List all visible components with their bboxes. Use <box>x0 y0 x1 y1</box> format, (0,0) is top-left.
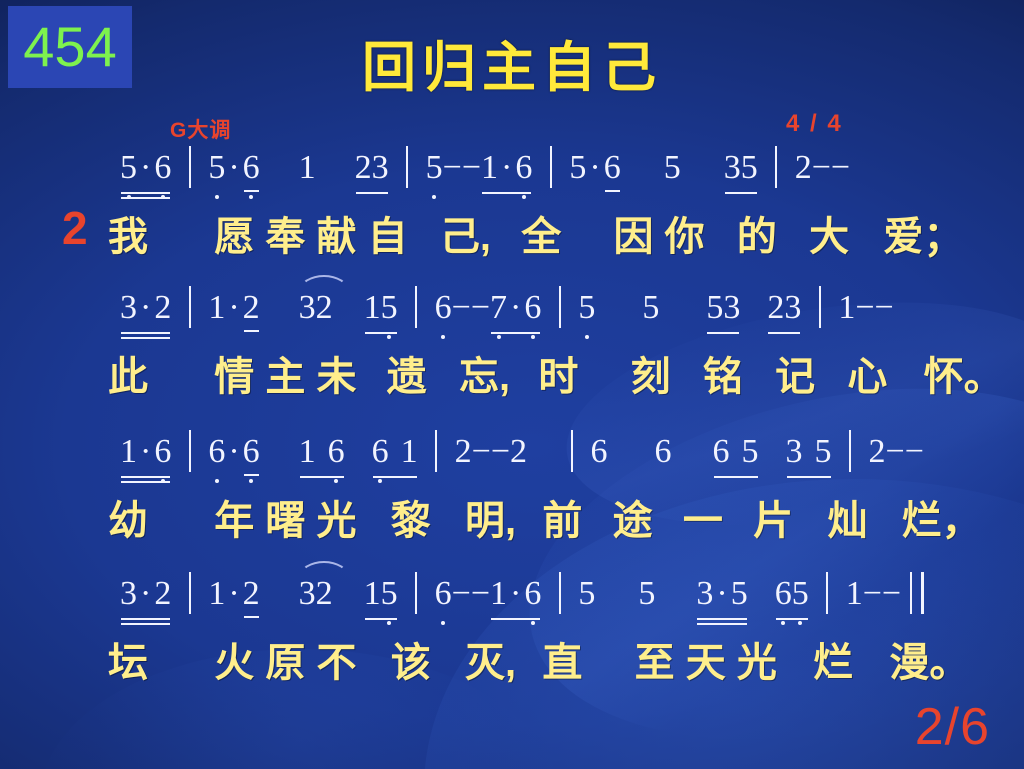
lyric-syllable: 前 <box>542 488 582 546</box>
lyric-syllable: 漫。 <box>889 630 969 688</box>
note: 2 <box>795 151 812 185</box>
lyric-syllable: 火 <box>214 630 254 688</box>
duration-dash: − <box>905 433 924 471</box>
note-group: 5·6 <box>120 149 171 187</box>
barline <box>189 286 191 328</box>
note: 6 <box>372 435 389 469</box>
note: 2 <box>355 151 372 185</box>
barline <box>435 430 437 472</box>
music-system-3: 1·6 6·6 16 61 2−−2 6 6 65 35 2−− 幼 年 曙 <box>0 430 1024 550</box>
lyric-syllable: 灭, <box>465 630 516 688</box>
note: 1 <box>364 577 381 611</box>
note: 3 <box>120 291 137 325</box>
note: 5 <box>381 291 398 325</box>
note-group: 1·6 <box>481 149 532 187</box>
barline <box>406 146 408 188</box>
note-group: 15 <box>364 575 398 613</box>
note: 5 <box>664 151 681 185</box>
augmentation-dot: · <box>137 433 154 471</box>
lyric-syllable: 大 <box>809 204 849 262</box>
augmentation-dot: · <box>507 575 524 613</box>
lyric-syllable: 愿 <box>214 204 254 262</box>
duration-dash: − <box>462 149 481 187</box>
lyric-syllable: 忘, <box>459 344 510 402</box>
duration-dash: − <box>471 575 490 613</box>
music-system-2: 3·2 1·2 32 15 6−−7·6 5 5 53 23 1−− 此 情 主… <box>0 286 1024 406</box>
page-indicator: 2/6 <box>915 701 990 753</box>
lyric-syllable: 天 <box>686 630 726 688</box>
lyric-row-3: 幼 年 曙 光 黎 明, 前 途 一 片 灿 烂， <box>0 488 1024 550</box>
note: 1 <box>120 435 137 469</box>
augmentation-dot: · <box>586 149 603 187</box>
note: 3 <box>724 151 741 185</box>
lyric-syllable: 心 <box>847 344 887 402</box>
note: 7 <box>490 291 507 325</box>
note: 1 <box>481 151 498 185</box>
note: 1 <box>208 577 225 611</box>
note: 2 <box>316 577 333 611</box>
note-group: 16 <box>299 433 345 471</box>
note: 6 <box>655 435 672 469</box>
note: 1 <box>299 435 316 469</box>
lyric-syllable: 全 <box>521 204 561 262</box>
lyric-row-2: 此 情 主 未 遗 忘, 时 刻 铭 记 心 怀。 <box>0 344 1024 406</box>
augmentation-dot: · <box>225 433 242 471</box>
note: 2 <box>243 291 260 325</box>
key-signature-label: G大调 <box>170 114 231 144</box>
lyric-syllable: 该 <box>391 630 431 688</box>
lyric-syllable: 原 <box>265 630 305 688</box>
note-group: 53 <box>706 289 740 327</box>
note-group: 3·2 <box>120 575 171 613</box>
note: 1 <box>364 291 381 325</box>
time-signature-label: 4 / 4 <box>786 110 843 138</box>
duration-dash: − <box>855 289 874 327</box>
lyric-syllable: 烂 <box>813 630 853 688</box>
note: 6 <box>713 435 730 469</box>
lyric-syllable: 片 <box>753 488 793 546</box>
lyric-syllable: 直 <box>542 630 582 688</box>
note: 3 <box>299 577 316 611</box>
augmentation-dot: · <box>713 575 730 613</box>
note-group: 61 <box>372 433 418 471</box>
duration-dash: − <box>886 433 905 471</box>
note-group: 65 <box>713 433 759 471</box>
note: 6 <box>328 435 345 469</box>
barline <box>571 430 573 472</box>
barline <box>819 286 821 328</box>
lyric-row-4: 坛 火 原 不 该 灭, 直 至 天 光 烂 漫。 <box>0 630 1024 692</box>
barline <box>415 286 417 328</box>
note: 2 <box>316 291 333 325</box>
duration-dash: − <box>831 149 850 187</box>
note: 1 <box>208 291 225 325</box>
lyric-syllable: 爱； <box>883 204 963 262</box>
note-group: 23 <box>355 149 389 187</box>
lyric-syllable: 未 <box>317 344 357 402</box>
note-group: 7·6 <box>490 289 541 327</box>
duration-dash: − <box>471 289 490 327</box>
note: 2 <box>154 291 171 325</box>
note: 6 <box>775 577 792 611</box>
duration-dash: − <box>863 575 882 613</box>
lyric-syllable: 此 <box>108 344 148 402</box>
notation-row-1: 5·6 5·6 1 23 5−−1·6 5·6 5 35 2−− <box>0 146 1024 204</box>
barline <box>189 146 191 188</box>
lyric-syllable: 途 <box>613 488 653 546</box>
note-group: 65 <box>775 575 809 613</box>
note: 1 <box>490 577 507 611</box>
augmentation-dot: · <box>137 149 154 187</box>
note: 3 <box>786 435 803 469</box>
augmentation-dot: · <box>507 289 524 327</box>
lyric-syllable: 我 <box>108 204 148 262</box>
lyric-syllable: 年 <box>214 488 254 546</box>
note: 5 <box>569 151 586 185</box>
note: 6 <box>243 151 260 185</box>
note: 3 <box>784 291 801 325</box>
augmentation-dot: · <box>225 149 242 187</box>
note: 3 <box>696 577 713 611</box>
hymn-slide: 454 回归主自己 G大调 4 / 4 2 5·6 5·6 1 23 5−−1·… <box>0 0 1024 769</box>
note: 5 <box>815 435 832 469</box>
note: 3 <box>120 577 137 611</box>
augmentation-dot: · <box>137 575 154 613</box>
note-group: 3·2 <box>120 289 171 327</box>
lyric-syllable: 不 <box>317 630 357 688</box>
note-group: 35 <box>724 149 758 187</box>
note: 5 <box>792 577 809 611</box>
note: 5 <box>426 151 443 185</box>
note: 6 <box>435 291 452 325</box>
lyric-syllable: 你 <box>665 204 705 262</box>
note: 5 <box>742 435 759 469</box>
barline <box>849 430 851 472</box>
note: 1 <box>299 151 316 185</box>
lyric-syllable: 主 <box>265 344 305 402</box>
augmentation-dot: · <box>225 575 242 613</box>
note: 5 <box>381 577 398 611</box>
lyric-syllable: 己, <box>440 204 491 262</box>
note: 5 <box>578 577 595 611</box>
lyric-syllable: 铭 <box>703 344 743 402</box>
barline <box>415 572 417 614</box>
note: 5 <box>120 151 137 185</box>
note: 6 <box>591 435 608 469</box>
note: 6 <box>524 577 541 611</box>
final-barline <box>910 572 924 614</box>
lyric-syllable: 灿 <box>827 488 867 546</box>
note-group: 1·6 <box>120 433 171 471</box>
note: 6 <box>435 577 452 611</box>
lyric-syllable: 至 <box>635 630 675 688</box>
note: 2 <box>510 435 527 469</box>
note: 3 <box>723 291 740 325</box>
lyric-syllable: 曙 <box>265 488 305 546</box>
note-group: 23 <box>767 289 801 327</box>
lyric-syllable: 遗 <box>387 344 427 402</box>
lyric-syllable: 黎 <box>391 488 431 546</box>
note-group: 15 <box>364 289 398 327</box>
lyric-syllable: 奉 <box>265 204 305 262</box>
lyric-syllable: 情 <box>214 344 254 402</box>
barline <box>559 572 561 614</box>
barline <box>189 430 191 472</box>
notation-row-3: 1·6 6·6 16 61 2−−2 6 6 65 35 2−− <box>0 430 1024 488</box>
lyric-syllable: 记 <box>775 344 815 402</box>
note: 5 <box>706 291 723 325</box>
lyric-row-1: 我 愿 奉 献 自 己, 全 因 你 的 大 爱； <box>0 204 1024 266</box>
note-group-slurred: 32 <box>299 289 333 327</box>
note: 3 <box>299 291 316 325</box>
lyric-syllable: 的 <box>737 204 777 262</box>
duration-dash: − <box>472 433 491 471</box>
note-group-slurred: 32 <box>299 575 333 613</box>
lyric-syllable: 献 <box>317 204 357 262</box>
note: 5 <box>741 151 758 185</box>
duration-dash: − <box>882 575 901 613</box>
augmentation-dot: · <box>498 149 515 187</box>
duration-dash: − <box>812 149 831 187</box>
lyric-syllable: 自 <box>368 204 408 262</box>
notation-row-2: 3·2 1·2 32 15 6−−7·6 5 5 53 23 1−− <box>0 286 1024 344</box>
note: 2 <box>767 291 784 325</box>
lyric-syllable: 光 <box>317 488 357 546</box>
barline <box>559 286 561 328</box>
note: 1 <box>401 435 418 469</box>
lyric-syllable: 时 <box>538 344 578 402</box>
note: 1 <box>838 291 855 325</box>
note: 6 <box>604 151 621 185</box>
duration-dash: − <box>452 575 471 613</box>
augmentation-dot: · <box>225 289 242 327</box>
barline <box>189 572 191 614</box>
augmentation-dot: · <box>137 289 154 327</box>
note-group: 35 <box>786 433 832 471</box>
note: 6 <box>515 151 532 185</box>
note: 6 <box>154 151 171 185</box>
lyric-syllable: 烂， <box>902 488 982 546</box>
note: 5 <box>638 577 655 611</box>
barline <box>550 146 552 188</box>
note: 6 <box>208 435 225 469</box>
lyric-syllable: 明, <box>465 488 516 546</box>
duration-dash: − <box>875 289 894 327</box>
barline <box>775 146 777 188</box>
note-group: 3·5 <box>696 575 747 613</box>
note: 1 <box>846 577 863 611</box>
note: 2 <box>154 577 171 611</box>
note: 6 <box>154 435 171 469</box>
note: 5 <box>731 577 748 611</box>
note-group: 1·6 <box>490 575 541 613</box>
note: 2 <box>869 435 886 469</box>
note: 5 <box>208 151 225 185</box>
duration-dash: − <box>491 433 510 471</box>
notation-row-4: 3·2 1·2 32 15 6−−1·6 5 5 3·5 65 1−− <box>0 572 1024 630</box>
duration-dash: − <box>452 289 471 327</box>
note: 6 <box>524 291 541 325</box>
lyric-syllable: 刻 <box>631 344 671 402</box>
note: 2 <box>243 577 260 611</box>
lyric-syllable: 一 <box>683 488 723 546</box>
lyric-syllable: 幼 <box>108 488 148 546</box>
lyric-syllable: 因 <box>614 204 654 262</box>
note: 2 <box>455 435 472 469</box>
note: 5 <box>578 291 595 325</box>
note: 5 <box>642 291 659 325</box>
music-system-1: 5·6 5·6 1 23 5−−1·6 5·6 5 35 2−− 我 愿 奉 献… <box>0 146 1024 266</box>
music-system-4: 3·2 1·2 32 15 6−−1·6 5 5 3·5 65 1−− 坛 火 … <box>0 572 1024 692</box>
note: 3 <box>372 151 389 185</box>
lyric-syllable: 坛 <box>108 630 148 688</box>
note: 6 <box>243 435 260 469</box>
page-title: 回归主自己 <box>0 40 1024 97</box>
lyric-syllable: 怀。 <box>924 344 1004 402</box>
lyric-syllable: 光 <box>737 630 777 688</box>
barline <box>826 572 828 614</box>
duration-dash: − <box>443 149 462 187</box>
